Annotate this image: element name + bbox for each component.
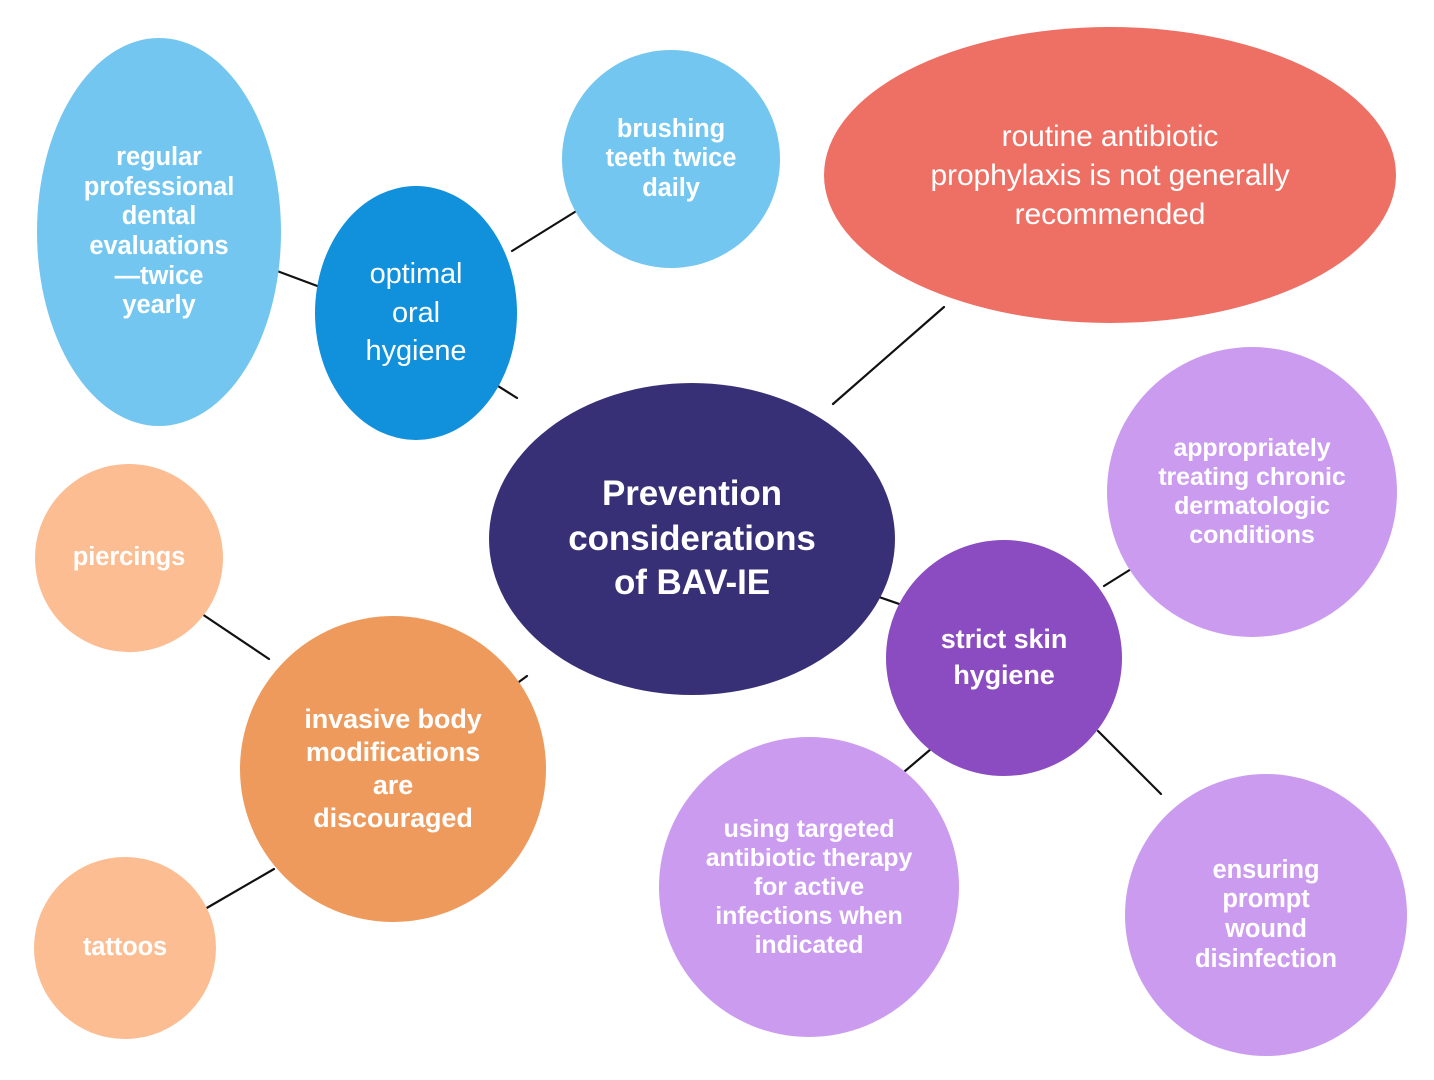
node-label: ensuring prompt wound disinfection [1129,856,1403,974]
node-targeted-antibiotic-therapy[interactable]: using targeted antibiotic therapy for ac… [659,737,959,1037]
node-label: routine antibiotic prophylaxis is not ge… [828,117,1392,234]
edge-central-to-prophylaxis [833,307,944,404]
node-label: optimal oral hygiene [319,255,513,372]
edge-skin-hygiene-to-wound [1098,731,1161,794]
node-label: tattoos [38,933,212,963]
node-label: brushing teeth twice daily [566,115,776,204]
node-label: regular professional dental evaluations … [41,143,277,320]
node-regular-dental-evaluations[interactable]: regular professional dental evaluations … [37,38,281,426]
edge-invasive-to-piercings [196,610,269,659]
edge-invasive-to-tattoos [205,869,274,909]
node-strict-skin-hygiene[interactable]: strict skin hygiene [886,540,1122,776]
node-optimal-oral-hygiene[interactable]: optimal oral hygiene [315,186,517,440]
mindmap-canvas: Prevention considerations of BAV-IE regu… [0,0,1434,1080]
node-central-prevention-considerations[interactable]: Prevention considerations of BAV-IE [489,383,895,695]
node-brushing-teeth-twice-daily[interactable]: brushing teeth twice daily [562,50,780,268]
node-routine-antibiotic-prophylaxis[interactable]: routine antibiotic prophylaxis is not ge… [824,27,1396,323]
node-label: piercings [39,543,219,573]
node-label: using targeted antibiotic therapy for ac… [663,815,955,960]
node-label: invasive body modifications are discoura… [244,703,542,835]
node-piercings[interactable]: piercings [35,464,223,652]
node-label: strict skin hygiene [890,622,1118,693]
edge-oral-hygiene-to-brushing [512,210,578,251]
node-invasive-body-modifications[interactable]: invasive body modifications are discoura… [240,616,546,922]
node-prompt-wound-disinfection[interactable]: ensuring prompt wound disinfection [1125,774,1407,1056]
node-tattoos[interactable]: tattoos [34,857,216,1039]
node-label: appropriately treating chronic dermatolo… [1111,434,1393,550]
node-label: Prevention considerations of BAV-IE [493,472,891,606]
node-treating-chronic-dermatologic-conditions[interactable]: appropriately treating chronic dermatolo… [1107,347,1397,637]
